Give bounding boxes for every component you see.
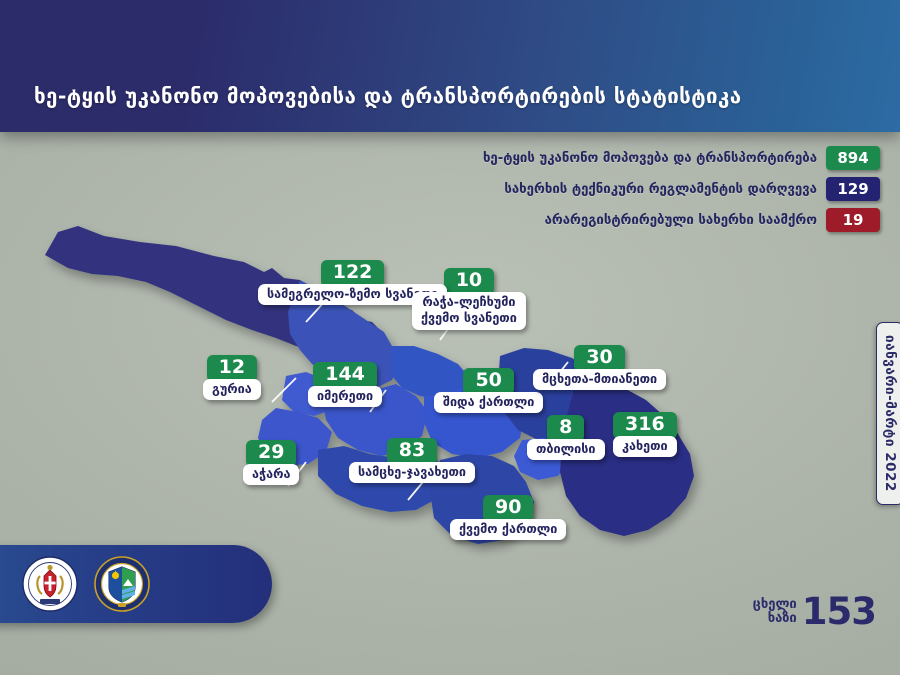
region-marker-kakheti[interactable]: 316 კახეთი — [613, 412, 677, 457]
hotline-number: 153 — [802, 590, 876, 633]
region-value: 83 — [387, 438, 437, 465]
page-title: ხე-ტყის უკანონო მოპოვებისა და ტრანსპორტი… — [0, 84, 741, 132]
region-label: იმერეთი — [308, 386, 382, 407]
region-marker-imereti[interactable]: 144 იმერეთი — [308, 362, 382, 407]
infographic-root: ხე-ტყის უკანონო მოპოვებისა და ტრანსპორტი… — [0, 0, 900, 675]
region-value: 30 — [574, 345, 624, 372]
hotline: ცხელი ხაზი 153 — [753, 590, 876, 633]
logo-bar — [0, 545, 272, 623]
region-label: აჭარა — [243, 464, 299, 485]
region-label: შიდა ქართლი — [434, 392, 543, 413]
region-value: 8 — [547, 415, 584, 442]
hotline-label-line1: ცხელი — [753, 598, 797, 611]
region-label: მცხეთა-მთიანეთი — [533, 369, 666, 390]
georgia-map: 122 სამეგრელო-ზემო სვანეთი 10 რაჭა-ლეჩხუ… — [0, 150, 900, 580]
hotline-label: ცხელი ხაზი — [753, 598, 797, 625]
region-marker-kvemo-kartli[interactable]: 90 ქვემო ქართლი — [450, 495, 566, 540]
region-value: 50 — [463, 368, 513, 395]
period-tag: იანვარი-მარტი 2022 — [876, 322, 900, 505]
environmental-supervision-department-emblem — [94, 556, 150, 612]
region-marker-guria[interactable]: 12 გურია — [203, 355, 261, 400]
region-marker-samtskhe-javakheti[interactable]: 83 სამცხე-ჯავახეთი — [349, 438, 475, 483]
region-value: 144 — [313, 362, 377, 389]
region-marker-adjara[interactable]: 29 აჭარა — [243, 440, 299, 485]
region-label: სამცხე-ჯავახეთი — [349, 462, 475, 483]
header-bar: ხე-ტყის უკანონო მოპოვებისა და ტრანსპორტი… — [0, 0, 900, 132]
region-marker-mtskheta-mtianeti[interactable]: 30 მცხეთა-მთიანეთი — [533, 345, 666, 390]
region-label: გურია — [203, 379, 261, 400]
region-marker-shida-kartli[interactable]: 50 შიდა ქართლი — [434, 368, 543, 413]
region-value: 122 — [321, 260, 385, 287]
region-marker-tbilisi[interactable]: 8 თბილისი — [527, 415, 605, 460]
region-marker-racha-lechkhumi-kvemo-svaneti[interactable]: 10 რაჭა-ლეჩხუმიქვემო სვანეთი — [412, 268, 526, 330]
georgia-coat-of-arms-emblem — [22, 556, 78, 612]
region-label: კახეთი — [613, 436, 677, 457]
region-label: რაჭა-ლეჩხუმიქვემო სვანეთი — [412, 292, 526, 330]
region-label: თბილისი — [527, 439, 605, 460]
hotline-label-line2: ხაზი — [753, 612, 797, 625]
region-value: 29 — [246, 440, 296, 467]
region-value: 12 — [207, 355, 257, 382]
region-value: 10 — [444, 268, 494, 295]
region-label: ქვემო ქართლი — [450, 519, 566, 540]
period-label: იანვარი-მარტი 2022 — [882, 335, 898, 492]
region-value: 90 — [483, 495, 533, 522]
region-value: 316 — [613, 412, 677, 439]
